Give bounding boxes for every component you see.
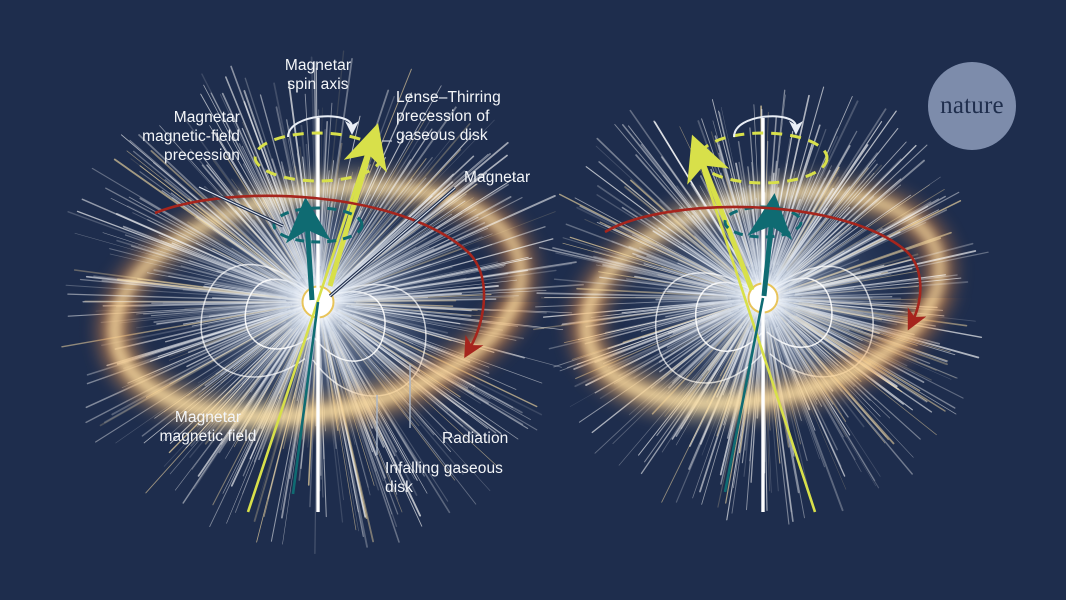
right-panel (534, 87, 988, 524)
nature-logo[interactable]: nature (928, 62, 1016, 150)
label-magnetar-spin-axis: Magnetar spin axis (248, 56, 388, 94)
label-radiation: Radiation (442, 429, 562, 448)
label-infalling-gaseous-disk: Infalling gaseous disk (385, 459, 535, 497)
figure-canvas: Magnetar spin axis Magnetar magnetic-fie… (0, 0, 1066, 600)
nature-logo-text: nature (940, 92, 1004, 120)
label-magnetar: Magnetar (464, 168, 584, 187)
label-lense-thirring-precession: Lense–Thirring precession of gaseous dis… (396, 88, 556, 145)
label-magnetar-magnetic-field-precession: Magnetar magnetic-field precession (82, 108, 240, 165)
label-magnetar-magnetic-field: Magnetar magnetic field (128, 408, 288, 446)
